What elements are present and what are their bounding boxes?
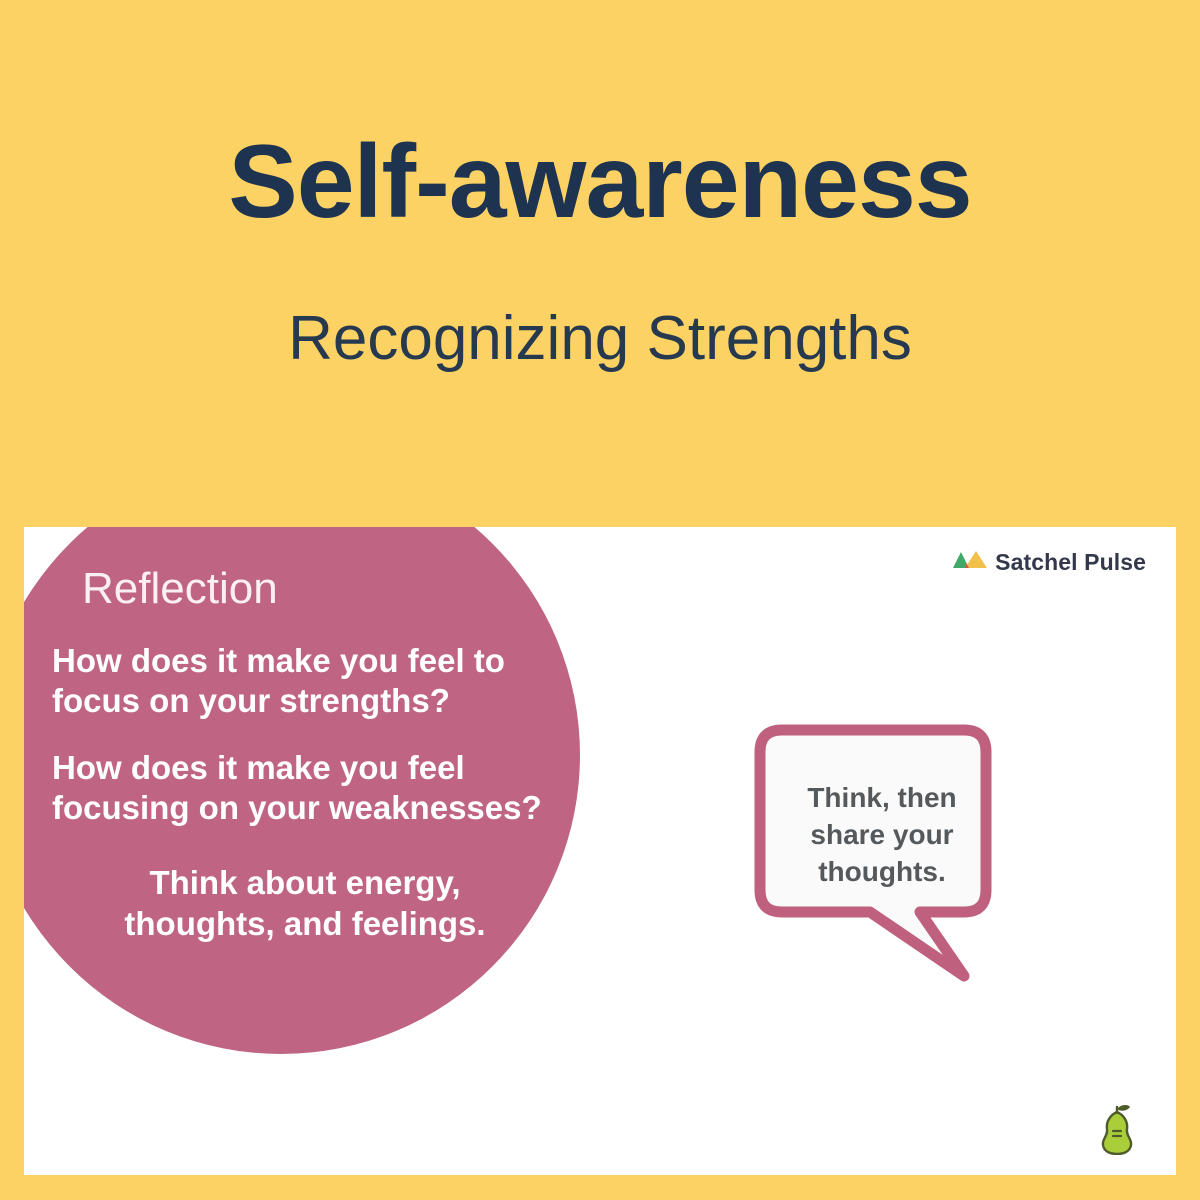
pear-icon	[1094, 1103, 1140, 1155]
reflection-heading: Reflection	[82, 567, 578, 611]
satchel-pulse-logo: Satchel Pulse	[953, 549, 1146, 576]
slide-root: Self-awareness Recognizing Strengths Ref…	[0, 0, 1200, 1200]
two-triangles-icon	[953, 550, 987, 575]
reflection-question-2: How does it make you feel focusing on yo…	[52, 748, 578, 829]
reflection-question-1: How does it make you feel to focus on yo…	[52, 641, 578, 722]
page-subtitle: Recognizing Strengths	[288, 305, 912, 373]
slide-header: Self-awareness Recognizing Strengths	[0, 0, 1200, 527]
speech-bubble: Think, then share your thoughts.	[752, 722, 1012, 992]
page-title: Self-awareness	[228, 128, 971, 237]
reflection-block: Reflection How does it make you feel to …	[38, 537, 578, 945]
slide-card: Reflection How does it make you feel to …	[24, 527, 1176, 1175]
reflection-note: Think about energy, thoughts, and feelin…	[70, 862, 540, 945]
speech-bubble-text: Think, then share your thoughts.	[784, 780, 980, 891]
logo-wordmark: Satchel Pulse	[995, 549, 1146, 576]
